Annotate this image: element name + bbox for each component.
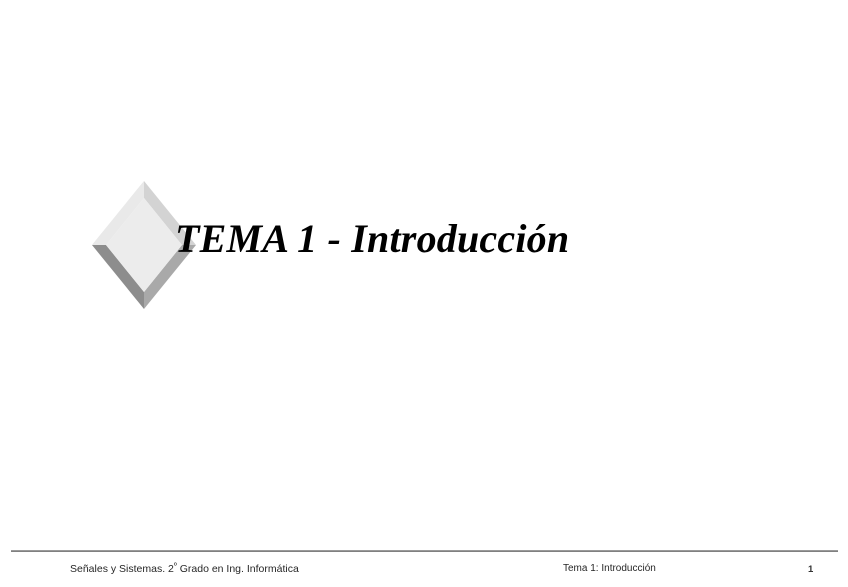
slide-canvas: TEMA 1 - Introducción Señales y Sistemas… bbox=[0, 0, 848, 587]
footer-divider bbox=[11, 550, 838, 552]
slide-footer: Señales y Sistemas. 2º Grado en Ing. Inf… bbox=[0, 563, 848, 585]
page-title: TEMA 1 - Introducción bbox=[175, 216, 569, 262]
diamond-bevel-icon bbox=[92, 181, 196, 309]
footer-course-label: Señales y Sistemas. 2º Grado en Ing. Inf… bbox=[70, 563, 299, 575]
footer-course-text-part1: Señales y Sistemas. 2 bbox=[70, 563, 174, 575]
footer-course-text-part2: Grado en Ing. Informática bbox=[177, 563, 299, 575]
title-block: TEMA 1 - Introducción bbox=[0, 0, 848, 587]
footer-page-number: 1 bbox=[808, 564, 824, 575]
footer-topic-label: Tema 1: Introducción bbox=[563, 563, 656, 574]
